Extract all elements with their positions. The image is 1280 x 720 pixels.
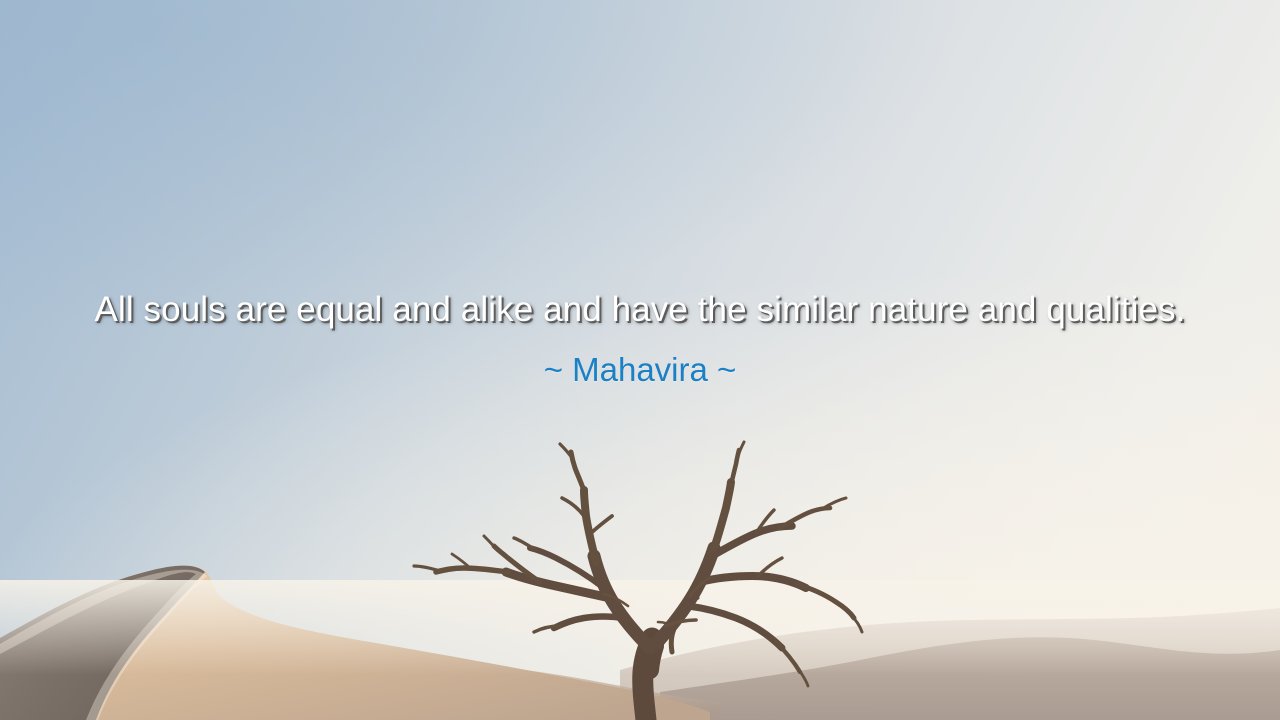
quote-author: ~ Mahavira ~	[90, 351, 1190, 389]
quote-block: All souls are equal and alike and have t…	[0, 288, 1280, 389]
branch-right-lower	[688, 606, 782, 648]
branch-right-mid	[700, 576, 806, 588]
tree-branches	[414, 442, 862, 720]
quote-text: All souls are equal and alike and have t…	[90, 288, 1190, 331]
dead-tree	[0, 420, 1280, 720]
quote-image-canvas: All souls are equal and alike and have t…	[0, 0, 1280, 720]
branch-right-upper	[712, 526, 792, 556]
branch-right-main	[656, 548, 714, 644]
